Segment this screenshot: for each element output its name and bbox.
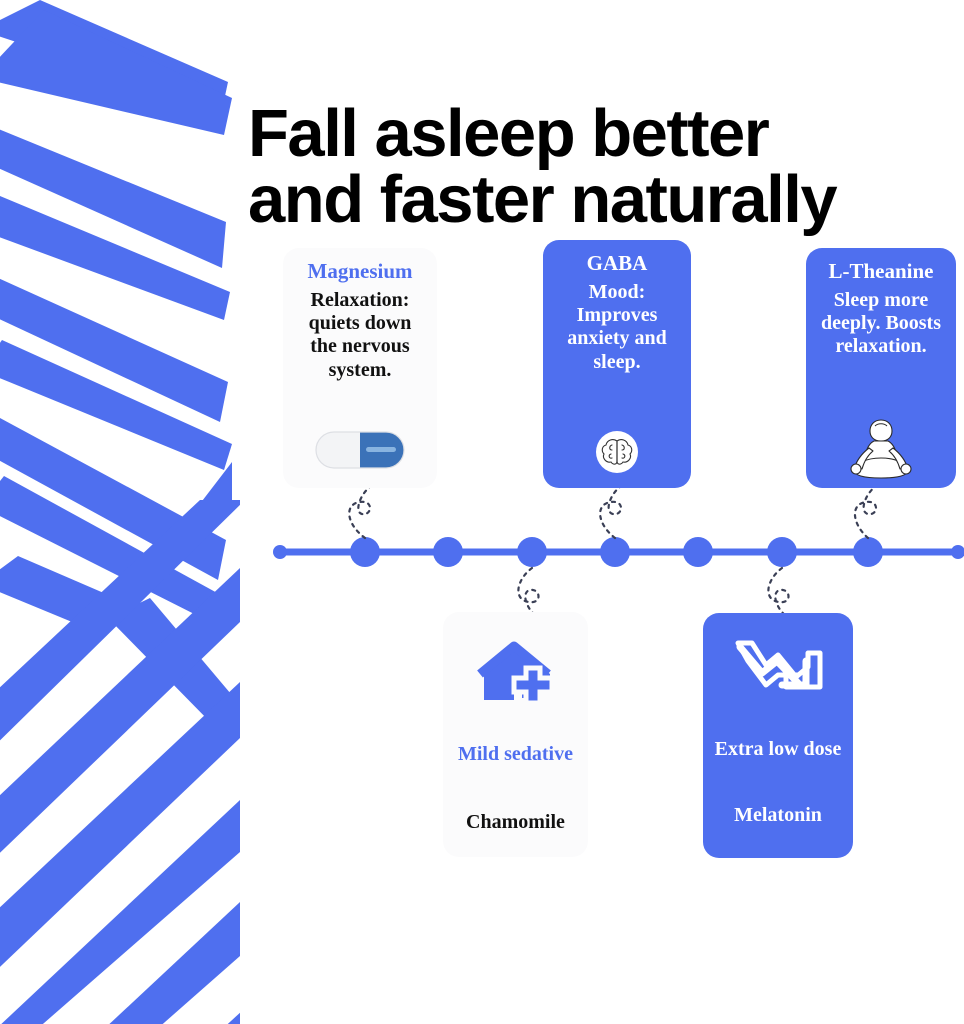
house-medical-cross-icon: [453, 640, 578, 716]
connector-dashed-magnesium: [349, 486, 371, 538]
connector-dashed-gaba: [600, 486, 621, 538]
card-gaba-title: GABA: [553, 252, 681, 275]
connector-dashed-chamomile: [518, 568, 538, 616]
card-chamomile-body: Chamomile: [453, 810, 578, 834]
card-magnesium-title: Magnesium: [293, 260, 427, 283]
timeline-node[interactable]: [600, 537, 630, 567]
infographic-canvas: Fall asleep better and faster naturally: [0, 0, 964, 1024]
card-melatonin-title: Extra low dose: [713, 737, 843, 761]
decorative-stripe-panel: [0, 0, 240, 1024]
title-line-2: and faster naturally: [248, 167, 948, 233]
card-ltheanine-body: Sleep more deeply. Boosts relaxation.: [816, 289, 946, 359]
diagonal-stripes-graphic: [0, 0, 240, 1024]
timeline-endcap-left: [273, 545, 287, 559]
card-gaba-body: Mood: Improves anxiety and sleep.: [553, 281, 681, 374]
timeline-node[interactable]: [517, 537, 547, 567]
timeline-node[interactable]: [433, 537, 463, 567]
connector-dashed-melatonin: [768, 568, 788, 616]
timeline-graphic: [268, 520, 964, 584]
title-line-1: Fall asleep better: [248, 96, 768, 171]
card-magnesium[interactable]: Magnesium Relaxation: quiets down the ne…: [283, 248, 437, 488]
timeline-node[interactable]: [350, 537, 380, 567]
card-chamomile-title: Mild sedative: [453, 742, 578, 766]
timeline-node[interactable]: [853, 537, 883, 567]
meditation-figure-icon: [806, 416, 956, 482]
downward-trend-arrow-icon: [713, 639, 843, 701]
connector-dashed-ltheanine: [855, 486, 876, 538]
timeline-node[interactable]: [683, 537, 713, 567]
timeline-node[interactable]: [767, 537, 797, 567]
card-chamomile[interactable]: Mild sedative Chamomile: [443, 612, 588, 857]
timeline: [268, 520, 964, 584]
card-magnesium-body: Relaxation: quiets down the nervous syst…: [293, 289, 427, 382]
card-melatonin[interactable]: Extra low dose Melatonin: [703, 613, 853, 858]
brain-icon: [543, 428, 691, 476]
timeline-endcap-right: [951, 545, 964, 559]
page-title: Fall asleep better and faster naturally: [248, 101, 948, 232]
card-gaba[interactable]: GABA Mood: Improves anxiety and sleep.: [543, 240, 691, 488]
card-ltheanine[interactable]: L-Theanine Sleep more deeply. Boosts rel…: [806, 248, 956, 488]
card-ltheanine-title: L-Theanine: [816, 260, 946, 283]
card-melatonin-body: Melatonin: [713, 803, 843, 827]
pill-capsule-icon: [283, 430, 437, 470]
